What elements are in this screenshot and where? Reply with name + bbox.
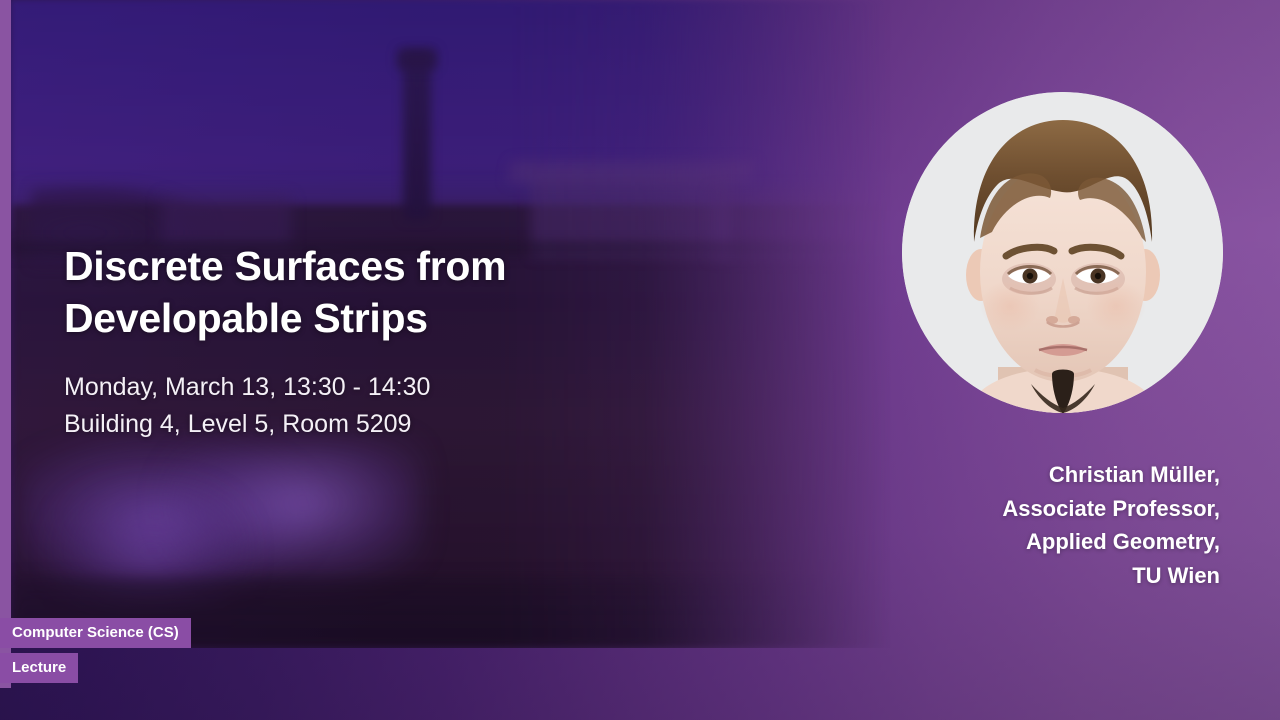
event-banner: Discrete Surfaces from Developable Strip…: [0, 0, 1280, 720]
event-title-line-2: Developable Strips: [64, 292, 684, 344]
speaker-portrait: [902, 92, 1223, 413]
event-title-line-1: Discrete Surfaces from: [64, 240, 684, 292]
tag-category[interactable]: Computer Science (CS): [0, 618, 191, 648]
tag-row-type: Lecture: [0, 653, 191, 683]
tag-row-category: Computer Science (CS): [0, 618, 191, 648]
event-datetime: Monday, March 13, 13:30 - 14:30: [64, 369, 704, 406]
speaker-institution: TU Wien: [800, 559, 1220, 593]
tag-list: Computer Science (CS) Lecture: [0, 618, 191, 683]
event-title: Discrete Surfaces from Developable Strip…: [64, 240, 684, 344]
event-location: Building 4, Level 5, Room 5209: [64, 406, 704, 443]
portrait-image: [902, 92, 1223, 413]
speaker-info: Christian Müller, Associate Professor, A…: [800, 458, 1220, 592]
tag-type[interactable]: Lecture: [0, 653, 78, 683]
speaker-role: Associate Professor,: [800, 492, 1220, 526]
speaker-name: Christian Müller,: [800, 458, 1220, 492]
event-meta: Monday, March 13, 13:30 - 14:30 Building…: [64, 369, 704, 443]
speaker-department: Applied Geometry,: [800, 525, 1220, 559]
left-accent-rail: [0, 0, 11, 688]
